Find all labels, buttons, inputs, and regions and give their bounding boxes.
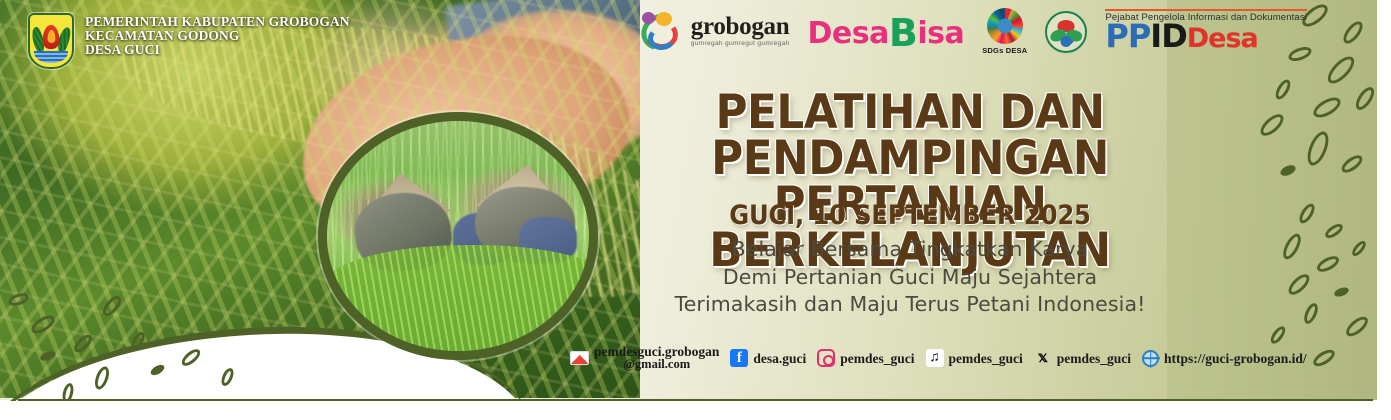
government-identity: PEMERINTAH KABUPATEN GROBOGAN KECAMATAN … [28, 13, 350, 69]
contact-website[interactable]: https://guci-grobogan.id/ [1142, 350, 1307, 367]
gmail-icon [570, 351, 589, 365]
farmers-planting-rice-photo [318, 112, 598, 360]
subtitle-line-2: Demi Pertanian Guci Maju Sejahtera [560, 264, 1260, 292]
desa-bisa-logo: DesaBisa [808, 15, 965, 49]
rice-paddy-foreground [321, 245, 598, 355]
contact-tiktok-text: pemdes_guci [949, 352, 1023, 365]
sdgs-desa-logo: SDGs DESA [982, 8, 1027, 55]
grobogan-wordmark: grobogan [691, 16, 790, 38]
contact-facebook[interactable]: f desa.guci [730, 349, 806, 367]
frame-right [1377, 0, 1391, 420]
contact-facebook-text: desa.guci [753, 352, 806, 365]
desabisa-part1: Desa [808, 16, 889, 51]
contact-instagram-text: pemdes_guci [840, 352, 914, 365]
x-twitter-icon: 𝕩 [1034, 349, 1052, 367]
ppid-id: ID [1150, 17, 1186, 55]
sdgs-label: SDGs DESA [982, 46, 1027, 55]
gov-line-3: DESA GUCI [85, 43, 350, 57]
facebook-icon: f [730, 349, 748, 367]
frame-bottom [0, 401, 1391, 420]
tiktok-icon: ♫ [926, 349, 944, 367]
grobogan-tagline: gumregah gumregut gumregah [691, 40, 790, 47]
event-subtitles: Belajar Bersama Tingkatkan Karya Demi Pe… [560, 236, 1260, 319]
contact-instagram[interactable]: pemdes_guci [817, 349, 914, 367]
ppid-wordmark: PPIDDesa [1105, 21, 1257, 54]
banner-root: PEMERINTAH KABUPATEN GROBOGAN KECAMATAN … [0, 0, 1391, 420]
grobogan-logo-text: grobogan gumregah gumregut gumregah [691, 16, 790, 47]
event-date: GUCI, 10 SEPTEMBER 2025 [595, 200, 1225, 231]
contact-tiktok[interactable]: ♫ pemdes_guci [926, 349, 1023, 367]
desabisa-part2: isa [917, 16, 964, 51]
subtitle-line-3: Terimakasih dan Maju Terus Petani Indone… [560, 291, 1260, 319]
contact-strip: pemdesguci.grobogan @gmail.com f desa.gu… [570, 345, 1360, 371]
photo-blue-shirt [445, 0, 640, 95]
contact-email-line2: @gmail.com [594, 358, 719, 371]
grobogan-logo: grobogan gumregah gumregut gumregah [640, 10, 790, 54]
website-icon [1142, 350, 1159, 367]
grobogan-regency-emblem-icon [28, 13, 74, 69]
ppid-pp: PP [1105, 17, 1150, 55]
partner-logos-row: grobogan gumregah gumregut gumregah Desa… [640, 8, 1307, 55]
ppid-desa-logo: Pejabat Pengelola Informasi dan Dokument… [1105, 9, 1307, 54]
emblem-flame [43, 25, 60, 49]
contact-email-text: pemdesguci.grobogan @gmail.com [594, 345, 719, 371]
desa-emblem-icon [1045, 11, 1087, 53]
ppid-desa: Desa [1187, 23, 1258, 54]
subtitle-line-1: Belajar Bersama Tingkatkan Karya [560, 236, 1260, 264]
contact-email[interactable]: pemdesguci.grobogan @gmail.com [570, 345, 719, 371]
grobogan-swirl-icon [640, 10, 684, 54]
sdgs-wheel-icon [987, 8, 1023, 44]
instagram-icon [817, 349, 835, 367]
gov-line-1: PEMERINTAH KABUPATEN GROBOGAN [85, 15, 350, 29]
government-text-block: PEMERINTAH KABUPATEN GROBOGAN KECAMATAN … [85, 13, 350, 56]
contact-x-text: pemdes_guci [1057, 352, 1131, 365]
contact-website-text: https://guci-grobogan.id/ [1164, 352, 1307, 365]
headline-line-1: PELATIHAN DAN PENDAMPINGAN [585, 90, 1236, 182]
contact-x[interactable]: 𝕩 pemdes_guci [1034, 349, 1131, 367]
desabisa-b-icon: B [889, 11, 917, 55]
gov-line-2: KECAMATAN GODONG [85, 29, 350, 43]
